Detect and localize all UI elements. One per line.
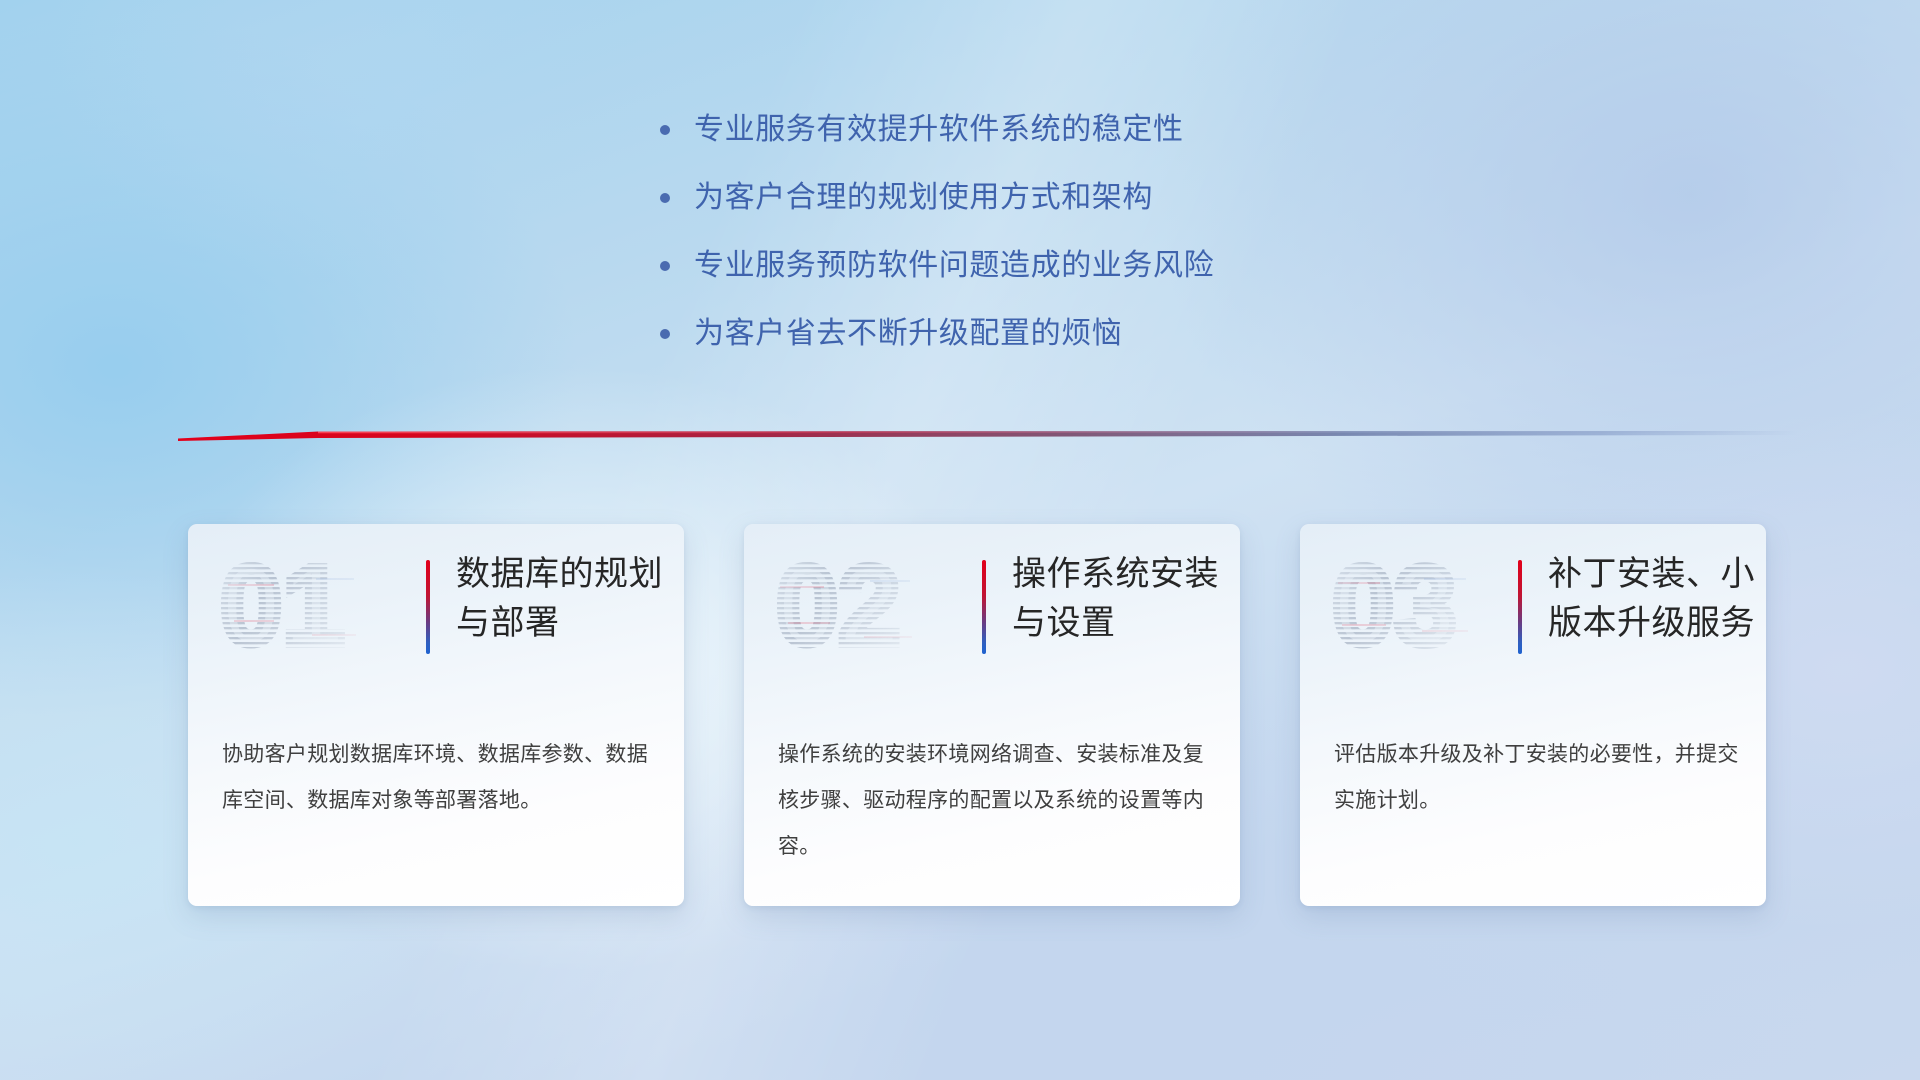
card-number-watermark: 03 03: [1332, 552, 1502, 664]
bullet-item-1: 专业服务有效提升软件系统的稳定性: [660, 108, 1420, 152]
bullet-item-3: 专业服务预防软件问题造成的业务风险: [660, 244, 1420, 288]
svg-text:02: 02: [776, 552, 901, 664]
card-body-text: 评估版本升级及补丁安装的必要性，并提交实施计划。: [1334, 732, 1742, 824]
card-title: 数据库的规划与部署: [456, 550, 676, 648]
card-header: 02 02 操作系统安装与设置: [744, 524, 1240, 674]
bullet-dot-icon: [660, 261, 670, 271]
service-card-02[interactable]: 02 02 操作系统安装与设置 操作系统的安装环境网络调查、安装标准及复核步骤、…: [744, 524, 1240, 906]
card-header: 03 03 补丁安装、小版本升级服务: [1300, 524, 1766, 674]
bullet-dot-icon: [660, 125, 670, 135]
bullet-list: 专业服务有效提升软件系统的稳定性 为客户合理的规划使用方式和架构 专业服务预防软…: [660, 108, 1420, 380]
card-title-rule: [426, 560, 430, 654]
card-number-watermark: 02 02: [776, 552, 946, 664]
card-title: 操作系统安装与设置: [1012, 550, 1240, 648]
card-body-text: 协助客户规划数据库环境、数据库参数、数据库空间、数据库对象等部署落地。: [222, 732, 660, 824]
card-body-text: 操作系统的安装环境网络调查、安装标准及复核步骤、驱动程序的配置以及系统的设置等内…: [778, 732, 1216, 870]
card-number-watermark: 01 01: [220, 552, 390, 664]
card-title: 补丁安装、小版本升级服务: [1548, 550, 1766, 648]
bullet-text: 专业服务有效提升软件系统的稳定性: [694, 108, 1184, 152]
bullet-item-2: 为客户合理的规划使用方式和架构: [660, 176, 1420, 220]
service-card-03[interactable]: 03 03 补丁安装、小版本升级服务 评估版本升级及补丁安装的必要性，并提交实施…: [1300, 524, 1766, 906]
bullet-text: 专业服务预防软件问题造成的业务风险: [694, 244, 1214, 288]
bullet-item-4: 为客户省去不断升级配置的烦恼: [660, 312, 1420, 356]
bullet-text: 为客户省去不断升级配置的烦恼: [694, 312, 1122, 356]
card-title-rule: [982, 560, 986, 654]
bullet-dot-icon: [660, 329, 670, 339]
svg-text:03: 03: [1332, 552, 1457, 664]
bullet-text: 为客户合理的规划使用方式和架构: [694, 176, 1153, 220]
section-divider: [178, 424, 1798, 446]
bullet-dot-icon: [660, 193, 670, 203]
service-card-01[interactable]: 01 01 数据库的规划与部署 协助客户规划数据库环境、数据库参数、数据库空间、…: [188, 524, 684, 906]
card-title-rule: [1518, 560, 1522, 654]
svg-text:01: 01: [220, 552, 345, 664]
card-header: 01 01 数据库的规划与部署: [188, 524, 684, 674]
